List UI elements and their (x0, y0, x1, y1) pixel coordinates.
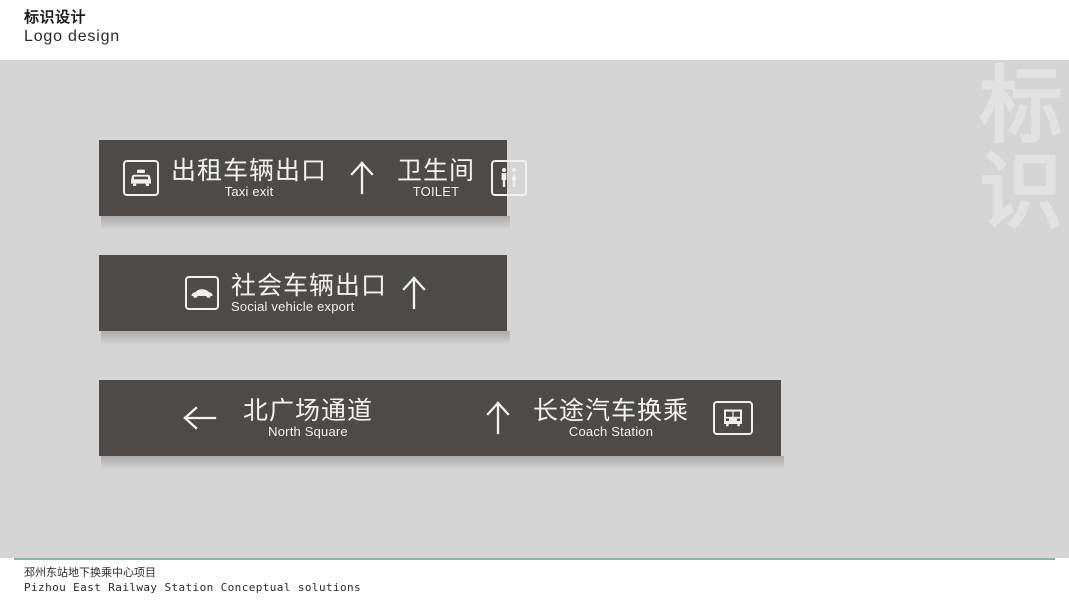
toilet-label-cn: 卫生间 (397, 157, 475, 184)
toilet-label-en: TOILET (397, 184, 475, 199)
social-vehicle-export-label: 社会车辆出口 Social vehicle export (231, 272, 387, 314)
arrow-up-icon (483, 399, 513, 437)
taxi-icon (123, 160, 159, 196)
arrow-left-icon (181, 403, 219, 433)
arrow-up-icon (399, 274, 429, 312)
coach-station-label-cn: 长途汽车换乘 (533, 397, 689, 424)
design-canvas: 标 识 出租车辆出口 Taxi exit 卫生间 (0, 60, 1069, 558)
social-vehicle-export-label-en: Social vehicle export (231, 299, 387, 314)
coach-station-label: 长途汽车换乘 Coach Station (533, 397, 689, 439)
arrow-up-icon (347, 159, 377, 197)
footer-divider (14, 558, 1055, 560)
page-header: 标识设计 Logo design (0, 0, 1069, 60)
north-square-label-cn: 北广场通道 (243, 397, 373, 424)
watermark: 标 识 (971, 63, 1069, 235)
taxi-exit-toilet-sign[interactable]: 出租车辆出口 Taxi exit 卫生间 TOILET (99, 140, 507, 216)
page-title-cn: 标识设计 (24, 9, 86, 27)
watermark-char-2: 识 (971, 149, 1069, 235)
bus-icon (713, 401, 753, 435)
coach-station-label-en: Coach Station (533, 424, 689, 439)
page-title-en: Logo design (24, 27, 120, 47)
taxi-exit-label-en: Taxi exit (171, 184, 327, 199)
toilet-label: 卫生间 TOILET (397, 157, 475, 199)
north-square-label: 北广场通道 North Square (243, 397, 373, 439)
toilet-icon (491, 160, 527, 196)
watermark-char-1: 标 (971, 63, 1069, 149)
car-icon (185, 276, 219, 310)
footer-title-cn: 邳州东站地下换乘中心项目 (24, 566, 156, 580)
social-vehicle-export-sign[interactable]: 社会车辆出口 Social vehicle export (99, 255, 507, 331)
north-square-coach-station-sign[interactable]: 北广场通道 North Square 长途汽车换乘 Coach Station (99, 380, 781, 456)
footer-title-en: Pizhou East Railway Station Conceptual s… (24, 581, 361, 595)
taxi-exit-label-cn: 出租车辆出口 (171, 157, 327, 184)
social-vehicle-export-label-cn: 社会车辆出口 (231, 272, 387, 299)
north-square-label-en: North Square (243, 424, 373, 439)
page-footer: 邳州东站地下换乘中心项目 Pizhou East Railway Station… (0, 558, 1069, 600)
taxi-exit-label: 出租车辆出口 Taxi exit (171, 157, 327, 199)
